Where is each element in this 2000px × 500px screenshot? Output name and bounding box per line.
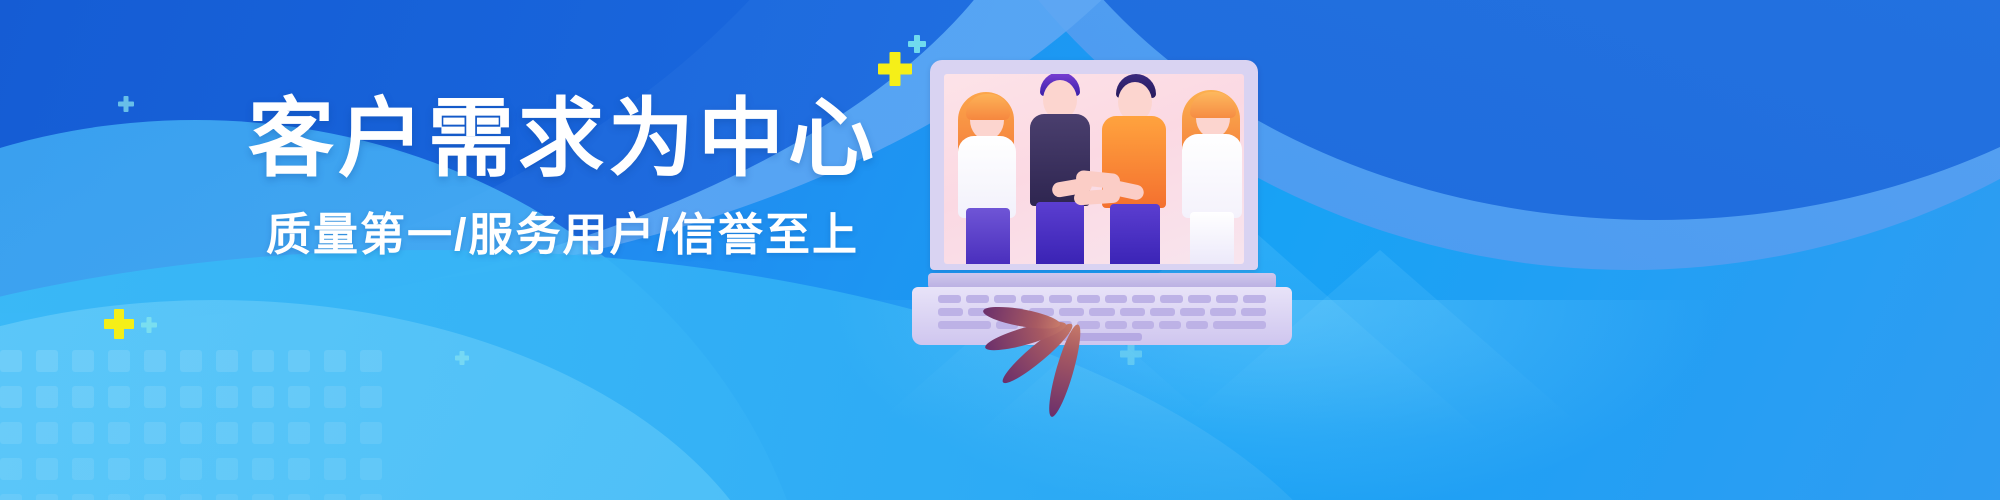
grid-dot: [216, 386, 238, 408]
grid-dot: [36, 458, 58, 480]
person-4: [1172, 82, 1244, 264]
plus-icon-cyan-small-left: [141, 317, 157, 333]
grid-dot: [0, 350, 22, 372]
plus-icon-yellow-large-right: [878, 52, 912, 86]
grid-dot: [180, 422, 202, 444]
keyboard-key: [1150, 308, 1175, 316]
grid-dot: [324, 494, 346, 500]
keyboard-key: [1216, 295, 1239, 303]
grid-dot: [324, 458, 346, 480]
grid-dot: [0, 422, 22, 444]
keyboard-key: [1213, 321, 1266, 329]
grid-dot: [360, 494, 382, 500]
laptop-illustration: [912, 60, 1292, 345]
grid-dot: [180, 350, 202, 372]
keyboard-key: [1180, 308, 1205, 316]
keyboard-key: [1059, 308, 1084, 316]
grid-dot: [216, 458, 238, 480]
grid-dot: [252, 422, 274, 444]
keyboard-key: [1077, 321, 1099, 329]
grid-dot: [288, 350, 310, 372]
plus-icon-cyan-lower-center: [455, 351, 469, 365]
grid-dot: [288, 458, 310, 480]
keyboard-key: [1186, 321, 1208, 329]
grid-dot: [252, 386, 274, 408]
grid-dot: [252, 494, 274, 500]
person-4-legs: [1190, 212, 1234, 264]
grid-dot: [144, 494, 166, 500]
grid-dot: [216, 350, 238, 372]
keyboard-key: [1120, 308, 1145, 316]
joined-hands-group: [1052, 170, 1148, 212]
keyboard-key: [1210, 308, 1235, 316]
grid-dot: [72, 458, 94, 480]
grid-dot: [252, 350, 274, 372]
banner-subheadline: 质量第一/服务用户/信誉至上: [266, 212, 888, 257]
keyboard-key: [1160, 295, 1183, 303]
leaf-frond-group: [886, 229, 1016, 339]
grid-dot: [144, 458, 166, 480]
grid-dot: [108, 422, 130, 444]
grid-dot: [252, 458, 274, 480]
grid-dot: [360, 458, 382, 480]
grid-dot: [108, 386, 130, 408]
keyboard-key: [1077, 295, 1100, 303]
grid-dot: [180, 386, 202, 408]
plus-icon-yellow-large-left: [104, 309, 134, 339]
grid-dot: [72, 422, 94, 444]
grid-dot: [36, 494, 58, 500]
person-4-torso: [1182, 134, 1242, 218]
keyboard-key: [1021, 295, 1044, 303]
keyboard-key: [1241, 308, 1266, 316]
grid-dot: [324, 350, 346, 372]
grid-dot: [180, 458, 202, 480]
grid-dot: [216, 494, 238, 500]
grid-dot: [0, 386, 22, 408]
grid-dot: [108, 494, 130, 500]
keyboard-key: [1105, 321, 1127, 329]
grid-dot: [324, 422, 346, 444]
grid-dot: [144, 386, 166, 408]
keyboard-key: [1132, 295, 1155, 303]
grid-dot: [180, 494, 202, 500]
grid-dot: [108, 350, 130, 372]
grid-dot: [36, 386, 58, 408]
person-3-legs: [1110, 204, 1160, 264]
banner-copy: 客户需求为中心 质量第一/服务用户/信誉至上: [248, 96, 888, 257]
keyboard-key: [1132, 321, 1154, 329]
keyboard-key: [1188, 295, 1211, 303]
plus-icon-cyan-small-right: [908, 35, 926, 53]
grid-dot: [0, 458, 22, 480]
grid-dot: [72, 350, 94, 372]
promo-banner: 客户需求为中心 质量第一/服务用户/信誉至上: [0, 0, 2000, 500]
grid-dot: [72, 494, 94, 500]
grid-dot: [36, 422, 58, 444]
grid-dot: [288, 494, 310, 500]
grid-dot: [144, 350, 166, 372]
grid-dot: [288, 386, 310, 408]
grid-dot: [144, 422, 166, 444]
person-1-torso: [958, 136, 1016, 218]
plus-icon-cyan-upper-left: [118, 96, 134, 112]
grid-dot: [360, 350, 382, 372]
keyboard-key: [1243, 295, 1266, 303]
grid-dot: [288, 422, 310, 444]
person-2: [1022, 74, 1098, 264]
keyboard-key: [1105, 295, 1128, 303]
grid-dot: [108, 458, 130, 480]
grid-dot: [36, 350, 58, 372]
grid-dot: [72, 386, 94, 408]
keyboard-key: [1089, 308, 1114, 316]
grid-dot: [360, 422, 382, 444]
banner-headline: 客户需求为中心: [248, 96, 888, 182]
keyboard-key: [1159, 321, 1181, 329]
plus-icon-cyan-lower-right: [1120, 343, 1142, 365]
grid-dot: [216, 422, 238, 444]
person-3: [1096, 74, 1174, 264]
grid-dot: [0, 494, 22, 500]
keyboard-key: [1049, 295, 1072, 303]
grid-dot: [324, 386, 346, 408]
grid-dot: [360, 386, 382, 408]
